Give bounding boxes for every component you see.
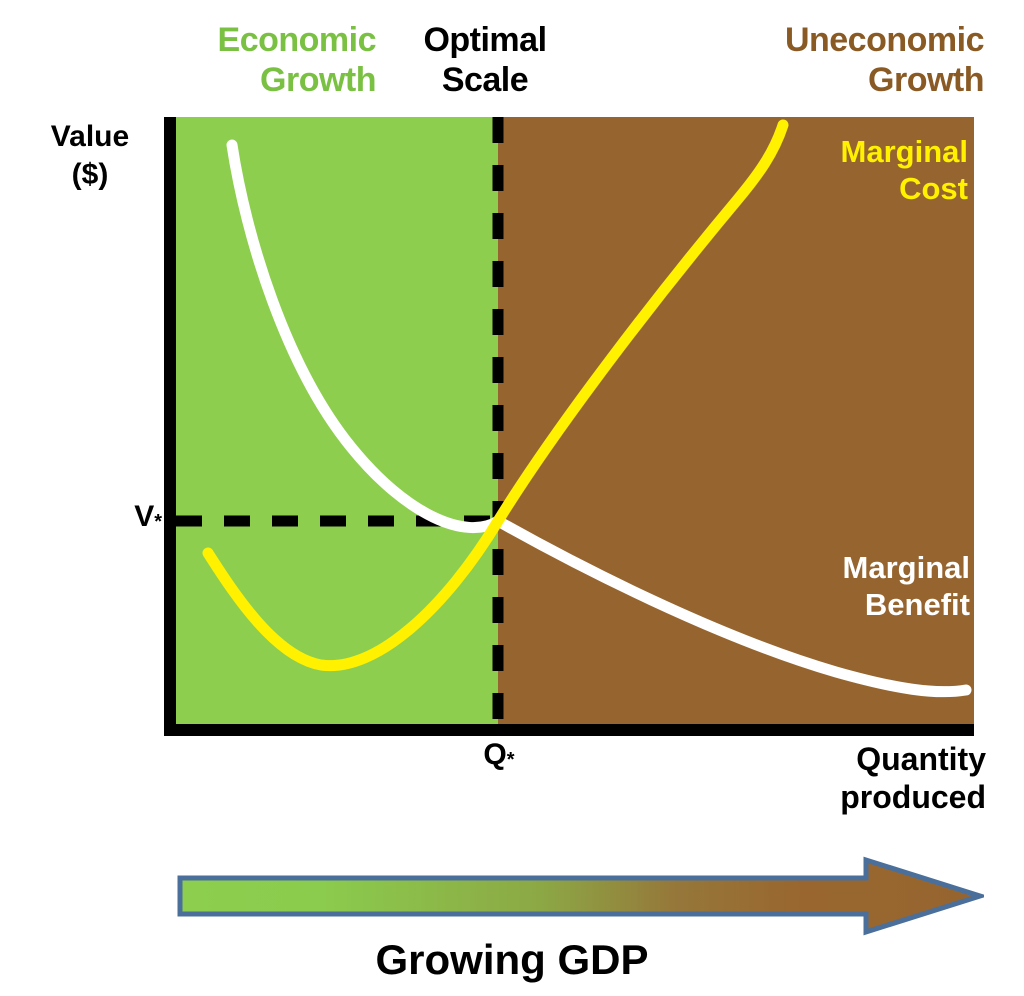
header-uneconomic-growth: Uneconomic Growth — [690, 20, 984, 100]
x-tick-letter: Q — [483, 738, 506, 771]
label-marginal-cost: Marginal Cost — [796, 133, 968, 207]
x-tick-label-q-star: Q* — [455, 738, 543, 772]
label-marginal-benefit: Marginal Benefit — [794, 549, 970, 623]
y-tick-label-v-star: V* — [96, 500, 162, 534]
growing-gdp-arrow — [176, 856, 984, 936]
y-axis-label: Value ($) — [20, 118, 160, 194]
y-tick-letter: V — [134, 500, 154, 533]
gdp-arrow-shape — [180, 860, 980, 932]
curve-marginal-cost — [208, 125, 783, 666]
plot-area: Marginal Cost Marginal Benefit — [176, 117, 974, 724]
x-tick-star: * — [507, 749, 515, 771]
curves-layer — [176, 117, 974, 724]
x-axis-label: Quantity produced — [700, 740, 986, 816]
gdp-caption: Growing GDP — [0, 936, 1024, 984]
header-optimal-scale: Optimal Scale — [392, 20, 578, 100]
y-axis-line — [164, 117, 176, 736]
diagram-canvas: Economic Growth Optimal Scale Uneconomic… — [0, 0, 1024, 996]
y-tick-star: * — [154, 511, 162, 533]
x-axis-line — [164, 724, 974, 736]
header-economic-growth: Economic Growth — [176, 20, 376, 100]
